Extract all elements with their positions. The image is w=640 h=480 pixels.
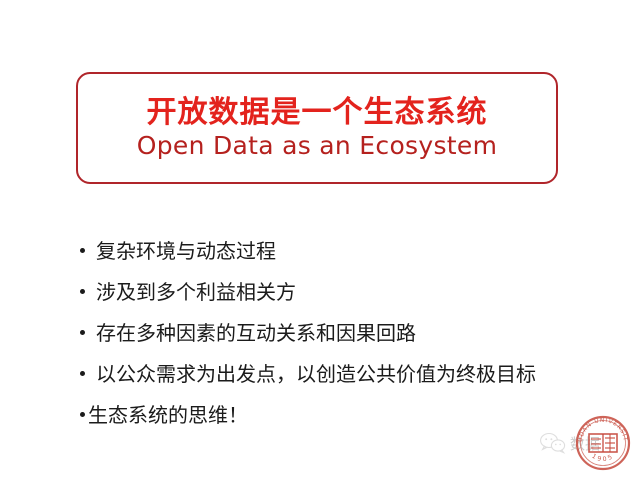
list-item: 生态系统的思维！ <box>80 395 600 436</box>
slide-canvas: 开放数据是一个生态系统 Open Data as an Ecosystem 复杂… <box>0 0 640 480</box>
bullet-dot-icon <box>80 248 85 253</box>
list-item: 涉及到多个利益相关方 <box>80 272 600 313</box>
fudan-university-seal-icon: FUDAN UNIVERSITY 1905 <box>574 414 632 472</box>
bullet-dot-icon <box>80 371 85 376</box>
list-item: 存在多种因素的互动关系和因果回路 <box>80 313 600 354</box>
list-item-label: 以公众需求为出发点，以创造公共价值为终极目标 <box>96 354 536 395</box>
list-item: 复杂环境与动态过程 <box>80 231 600 272</box>
wechat-icon <box>540 432 566 454</box>
svg-text:1905: 1905 <box>591 453 616 463</box>
title-box: 开放数据是一个生态系统 Open Data as an Ecosystem <box>76 72 558 184</box>
bullet-dot-icon <box>80 289 85 294</box>
list-item-label: 生态系统的思维！ <box>88 395 248 436</box>
list-item-label: 复杂环境与动态过程 <box>96 231 276 272</box>
list-item: 以公众需求为出发点，以创造公共价值为终极目标 <box>80 354 600 395</box>
bullet-list: 复杂环境与动态过程 涉及到多个利益相关方 存在多种因素的互动关系和因果回路 以公… <box>80 231 600 436</box>
watermark-cluster: 数据 FUDAN UNIVERSITY 1905 <box>540 414 632 472</box>
bullet-dot-icon <box>80 330 85 335</box>
list-item-label: 存在多种因素的互动关系和因果回路 <box>96 313 416 354</box>
page-title-chinese: 开放数据是一个生态系统 <box>147 96 488 130</box>
list-item-label: 涉及到多个利益相关方 <box>96 272 296 313</box>
bullet-dot-icon <box>80 412 85 417</box>
page-title-english: Open Data as an Ecosystem <box>137 132 497 160</box>
